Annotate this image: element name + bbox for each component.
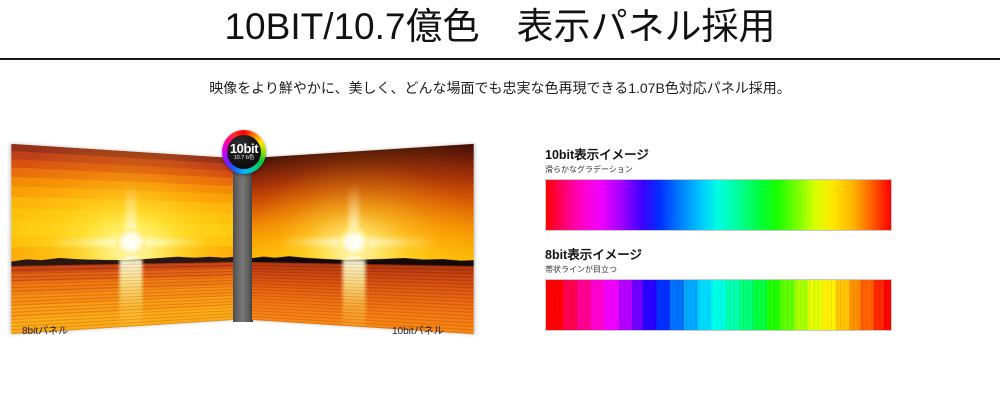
gradient-comparison: 10bit表示イメージ 滑らかなグラデーション 8bit表示イメージ 帯状ライン… xyxy=(540,148,940,348)
sun-disc xyxy=(115,228,146,256)
gradient-bar-smooth xyxy=(545,179,892,231)
sunset-scene-10bit xyxy=(252,144,474,334)
panel-comparison-illustration: 10bit 10.7 b色 8bitパネル 10bitパネル xyxy=(0,130,500,360)
badge-core: 10bit 10.7 b色 xyxy=(227,135,261,169)
badge-main-label: 10bit xyxy=(230,143,258,155)
tv-panel-10bit xyxy=(252,144,474,334)
panel-center-bezel xyxy=(233,156,253,322)
tv-panel-8bit xyxy=(11,144,233,334)
page-title: 10BIT/10.7億色 表示パネル採用 xyxy=(0,2,1000,52)
sunset-scene-8bit xyxy=(11,144,233,334)
gradient-note-10bit: 滑らかなグラデーション xyxy=(545,164,940,175)
gradient-note-8bit: 帯状ラインが目立つ xyxy=(545,264,940,275)
water-ripples xyxy=(252,262,474,334)
sun-disc xyxy=(338,228,369,256)
page-subtitle: 映像をより鮮やかに、美しく、どんな場面でも忠実な色再現できる1.07B色対応パネ… xyxy=(0,78,1000,98)
badge-sub-label: 10.7 b色 xyxy=(234,155,255,162)
header-divider xyxy=(0,58,1000,60)
water-ripples xyxy=(11,262,233,334)
gradient-title-10bit: 10bit表示イメージ xyxy=(545,148,940,163)
gradient-block-10bit: 10bit表示イメージ 滑らかなグラデーション xyxy=(540,148,940,231)
ten-bit-badge-icon: 10bit 10.7 b色 xyxy=(222,130,266,174)
gradient-bar-banded xyxy=(545,279,892,331)
caption-10bit-panel: 10bitパネル xyxy=(392,326,444,338)
gradient-block-8bit: 8bit表示イメージ 帯状ラインが目立つ xyxy=(540,248,940,331)
promo-slide: 10BIT/10.7億色 表示パネル採用 映像をより鮮やかに、美しく、どんな場面… xyxy=(0,0,1000,400)
gradient-title-8bit: 8bit表示イメージ xyxy=(545,248,940,263)
caption-8bit-panel: 8bitパネル xyxy=(22,326,68,338)
